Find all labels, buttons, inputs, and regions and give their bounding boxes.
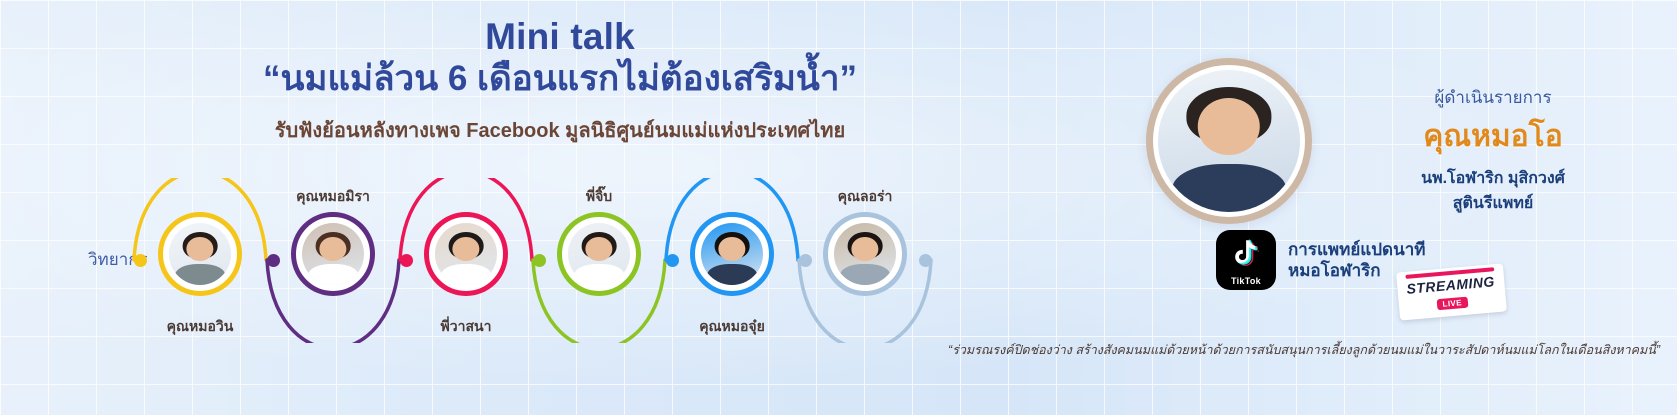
host-avatar-photo: [1158, 70, 1300, 212]
timeline-connector-dot: [799, 254, 812, 267]
speaker-avatar: [557, 212, 641, 296]
host-nickname: คุณหมอโอ: [1328, 113, 1658, 160]
host-avatar: [1146, 58, 1312, 224]
speaker-name-label: คุณลอร่า: [838, 186, 893, 208]
tiktok-channel-line-1: การแพทย์แปดนาที: [1288, 239, 1425, 260]
tiktok-wordmark: TikTok: [1231, 276, 1261, 286]
speaker-name-label: คุณหมอวิน: [167, 316, 234, 338]
headline-block: Mini talk “นมแม่ล้วน 6 เดือนแรกไม่ต้องเส…: [0, 16, 1120, 146]
live-badge: LIVE: [1436, 297, 1468, 311]
speaker-node[interactable]: คุณหมอจุ๋ย: [672, 178, 792, 338]
host-specialty: สูตินรีแพทย์: [1328, 191, 1658, 216]
speaker-node[interactable]: คุณหมอวิน: [140, 178, 260, 338]
speaker-avatar-photo: [834, 223, 896, 285]
speaker-node[interactable]: พี่วาสนา: [406, 178, 526, 338]
speaker-avatar: [690, 212, 774, 296]
speaker-portrait-illustration: [302, 223, 364, 285]
speaker-node[interactable]: คุณหมอมิรา: [273, 178, 393, 338]
speaker-avatar: [823, 212, 907, 296]
speaker-node[interactable]: คุณลอร่า: [805, 178, 925, 338]
subtitle-line: รับฟังย้อนหลังทางเพจ Facebook มูลนิธิศูน…: [0, 114, 1120, 146]
speaker-avatar-photo: [169, 223, 231, 285]
timeline-connector-dot: [400, 254, 413, 267]
speaker-avatar: [291, 212, 375, 296]
title-line-1: Mini talk: [0, 16, 1120, 57]
speaker-timeline: วิทยากร คุณหมอวินคุณหมอมิราพี่วาสนาพี่จิ…: [0, 178, 1110, 343]
speaker-name-label: พี่วาสนา: [441, 316, 492, 338]
speaker-avatar-photo: [701, 223, 763, 285]
timeline-end-dot: [919, 254, 932, 267]
speaker-portrait-illustration: [834, 223, 896, 285]
timeline-connector-dot: [666, 254, 679, 267]
speaker-name-label: คุณหมอจุ๋ย: [699, 316, 765, 338]
speaker-name-label: คุณหมอมิรา: [296, 186, 370, 208]
tiktok-icon[interactable]: TikTok: [1216, 230, 1276, 290]
speaker-node[interactable]: พี่จิ๊บ: [539, 178, 659, 338]
tiktok-note-glyph: [1229, 237, 1263, 271]
speaker-avatar: [158, 212, 242, 296]
speaker-avatar-photo: [302, 223, 364, 285]
speaker-portrait-illustration: [435, 223, 497, 285]
speaker-portrait-illustration: [568, 223, 630, 285]
speaker-avatar-photo: [568, 223, 630, 285]
tiktok-channel-row[interactable]: TikTok การแพทย์แปดนาที หมอโอฬาริก: [1216, 230, 1425, 290]
streaming-badge: STREAMING LIVE: [1396, 263, 1506, 320]
timeline-connector-dot: [533, 254, 546, 267]
speaker-avatar-photo: [435, 223, 497, 285]
timeline-connector-dot: [267, 254, 280, 267]
host-role: ผู้ดำเนินรายการ: [1328, 84, 1658, 111]
host-details: ผู้ดำเนินรายการ คุณหมอโอ นพ.โอฬาริก มุสิ…: [1328, 84, 1658, 216]
footer-caption: “ร่วมรณรงค์ปิดช่องว่าง สร้างสังคมนมแม่ด้…: [840, 340, 1660, 360]
host-portrait-illustration: [1158, 70, 1300, 212]
speaker-portrait-illustration: [701, 223, 763, 285]
timeline-connector-dot: [134, 254, 147, 267]
speaker-portrait-illustration: [169, 223, 231, 285]
speaker-avatar: [424, 212, 508, 296]
poster-canvas: Mini talk “นมแม่ล้วน 6 เดือนแรกไม่ต้องเส…: [0, 0, 1677, 415]
title-line-2: “นมแม่ล้วน 6 เดือนแรกไม่ต้องเสริมน้ำ”: [0, 59, 1120, 99]
host-fullname: นพ.โอฬาริก มุสิกวงศ์: [1328, 166, 1658, 191]
speaker-name-label: พี่จิ๊บ: [586, 186, 612, 208]
